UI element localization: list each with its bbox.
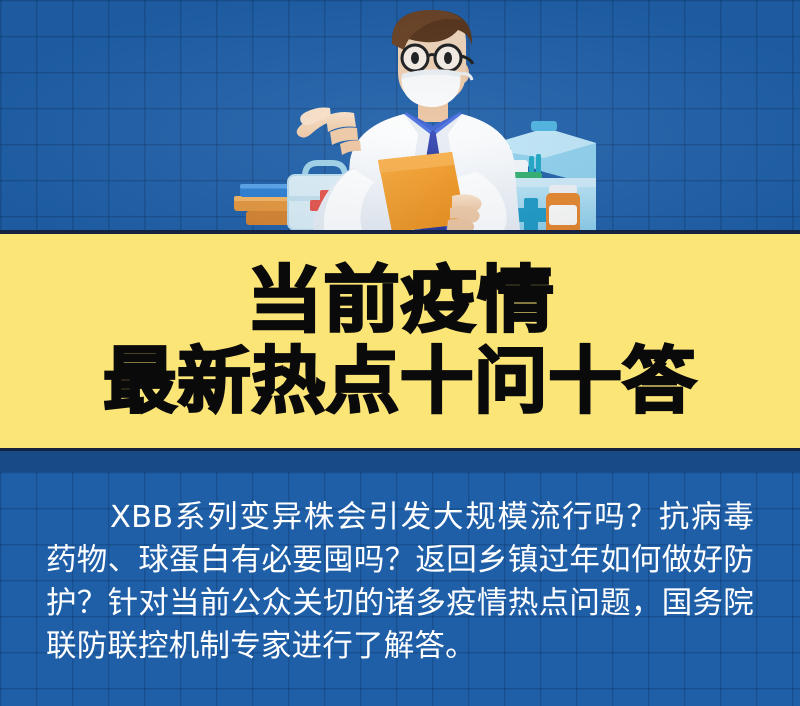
body-section: XBB系列变异株会引发大规模流行吗？抗病毒药物、球蛋白有必要囤吗？返回乡镇过年如… — [0, 472, 800, 706]
poster-title-line-1: 当前疫情 — [246, 264, 554, 337]
doctor-figure — [297, 10, 520, 230]
doctor-head — [392, 10, 473, 107]
divider-strip — [0, 448, 800, 472]
raised-hand — [297, 108, 361, 156]
intro-paragraph: XBB系列变异株会引发大规模流行吗？抗病毒药物、球蛋白有必要囤吗？返回乡镇过年如… — [46, 496, 754, 668]
poster-title-line-2: 最新热点十问十答 — [103, 345, 696, 418]
medicine-bottle-icon — [546, 185, 580, 230]
hero-banner — [0, 0, 800, 230]
doctor-illustration — [0, 0, 800, 230]
poster-root: 当前疫情 最新热点十问十答 XBB系列变异株会引发大规模流行吗？抗病毒药物、球蛋… — [0, 0, 800, 706]
title-banner: 当前疫情 最新热点十问十答 — [0, 230, 800, 448]
